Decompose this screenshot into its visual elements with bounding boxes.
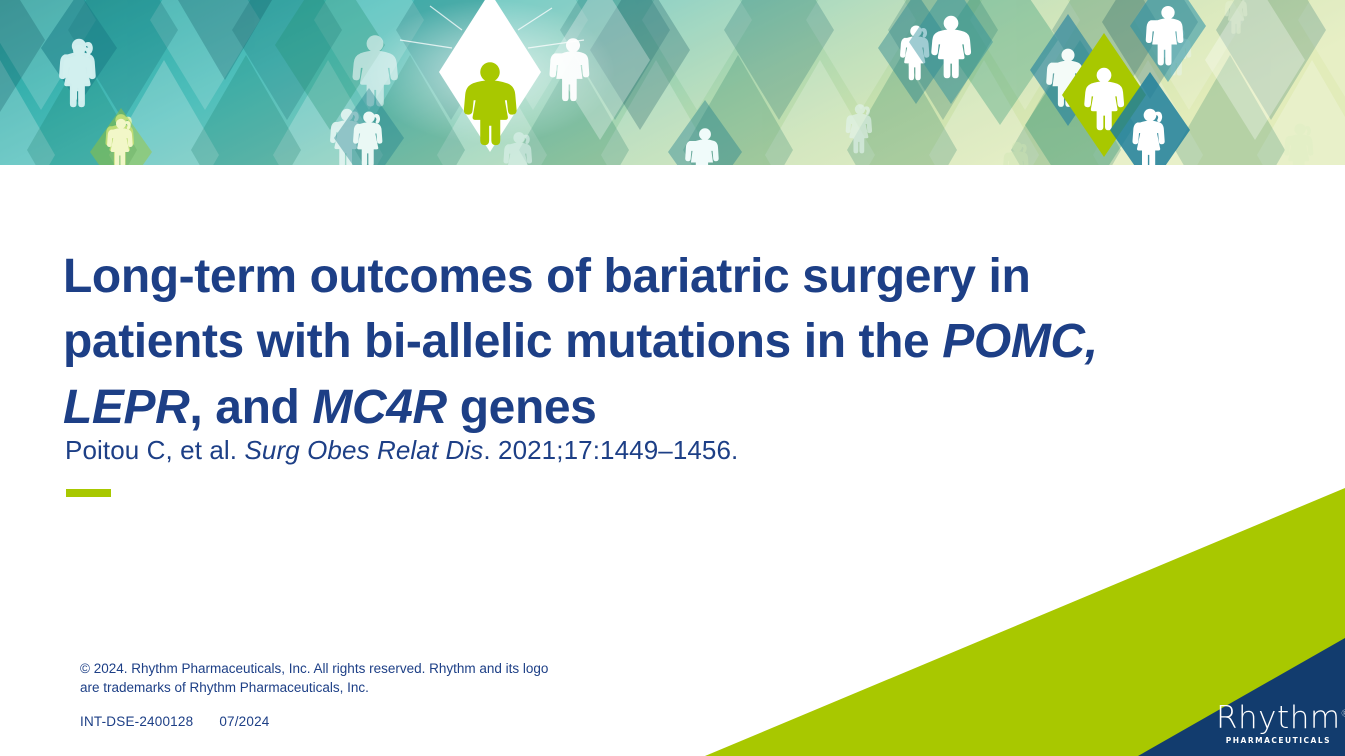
copyright-line-2: are trademarks of Rhythm Pharmaceuticals… <box>80 678 640 697</box>
logo-trademark-icon: ® <box>1341 710 1345 720</box>
slide-title: Long-term outcomes of bariatric surgery … <box>63 244 1193 440</box>
green-accent-bar <box>66 489 111 497</box>
logo-subtitle: PHARMACEUTICALS <box>1216 736 1331 745</box>
title-conjunction: , and <box>189 381 312 434</box>
doc-code: INT-DSE-2400128 <box>80 714 193 729</box>
logo-wordmark-text: Rhythm <box>1216 700 1341 736</box>
citation-journal: Surg Obes Relat Dis <box>244 435 483 465</box>
rhythm-logo: Rhythm® PHARMACEUTICALS <box>1216 703 1331 745</box>
gene-mc4r: MC4R <box>312 381 446 434</box>
title-line-1: Long-term outcomes of bariatric surgery … <box>63 250 1030 303</box>
title-line-3-tail: genes <box>447 381 597 434</box>
logo-wordmark: Rhythm® <box>1216 703 1331 734</box>
gene-pomc: POMC, <box>942 315 1097 368</box>
citation-details: . 2021;17:1449–1456. <box>483 435 738 465</box>
citation-line: Poitou C, et al. Surg Obes Relat Dis. 20… <box>65 435 738 466</box>
title-slide: Long-term outcomes of bariatric surgery … <box>0 0 1345 756</box>
citation-authors: Poitou C, et al. <box>65 435 237 465</box>
gene-lepr: LEPR <box>63 381 189 434</box>
copyright-line-1: © 2024. Rhythm Pharmaceuticals, Inc. All… <box>80 659 640 678</box>
patient-diamond-pattern-banner <box>0 0 1345 165</box>
doc-date: 07/2024 <box>219 714 269 729</box>
copyright-notice: © 2024. Rhythm Pharmaceuticals, Inc. All… <box>80 659 640 697</box>
banner-graphic <box>0 0 1345 165</box>
title-line-2-plain: patients with bi-allelic mutations in th… <box>63 315 942 368</box>
document-code-line: INT-DSE-240012807/2024 <box>80 714 270 729</box>
